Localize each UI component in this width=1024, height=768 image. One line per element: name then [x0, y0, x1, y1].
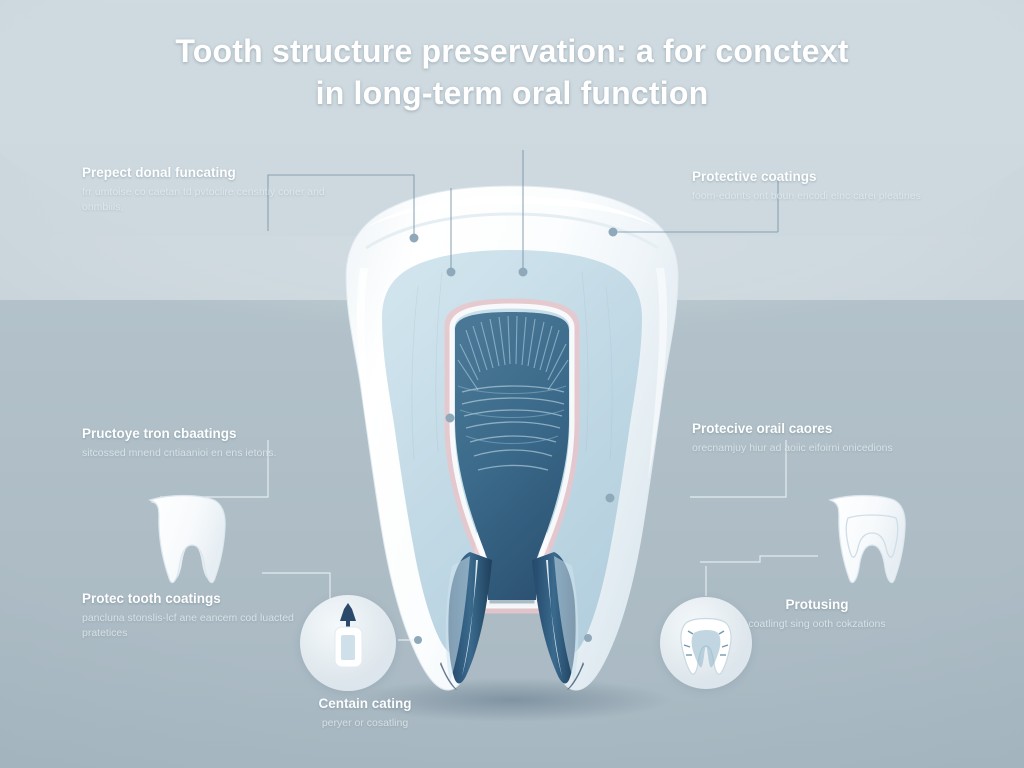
bottle-label [341, 635, 355, 660]
annotation-heading: Protective coatings [692, 168, 942, 186]
title-line-1: Tooth structure preservation: a for conc… [0, 30, 1024, 72]
page-title: Tooth structure preservation: a for conc… [0, 30, 1024, 114]
annotation-mid-right[interactable]: Protecive orail caores orecnamjuy hiur a… [692, 420, 942, 456]
tooth-circle-icon[interactable] [660, 597, 752, 689]
annotation-bottom-center[interactable]: Centain cating peryer or cosatling [250, 695, 480, 731]
annotation-mid-left[interactable]: Pructoye tron cbaatings sitcossed mnend … [82, 425, 332, 461]
annotation-sub: sitcossed mnend cntiaanioi en ens ietons… [82, 446, 332, 461]
background-arc-glow [0, 236, 1024, 376]
annotation-sub: frr umtoise co caetan td pvtoclire censh… [82, 185, 332, 215]
annotation-sub: foom-edonts ont boun encodi elnc carei p… [692, 189, 942, 204]
title-line-2: in long-term oral function [0, 72, 1024, 114]
annotation-sub: peryer or cosatling [250, 716, 480, 731]
annotation-heading: Prepect donal funcating [82, 164, 332, 182]
bottle-icon-circle[interactable] [300, 595, 396, 691]
annotation-sub: orecnamjuy hiur ad aoiic eifoirni oniced… [692, 441, 942, 456]
annotation-top-right[interactable]: Protective coatings foom-edonts ont boun… [692, 168, 942, 204]
annotation-sub: pancluna stonslis-lcf ane eancem cod lua… [82, 611, 332, 641]
bottle-cap [340, 603, 356, 629]
tooth-cross-section-icon [660, 597, 752, 689]
annotation-heading: Pructoye tron cbaatings [82, 425, 332, 443]
annotation-heading: Protecive orail caores [692, 420, 942, 438]
annotation-heading: Centain cating [250, 695, 480, 713]
annotation-heading: Protec tooth coatings [82, 590, 332, 608]
annotation-low-left[interactable]: Protec tooth coatings pancluna stonslis-… [82, 590, 332, 641]
dispenser-bottle-icon [300, 595, 396, 691]
annotation-top-left[interactable]: Prepect donal funcating frr umtoise co c… [82, 164, 332, 215]
infographic-canvas: Tooth structure preservation: a for conc… [0, 0, 1024, 768]
